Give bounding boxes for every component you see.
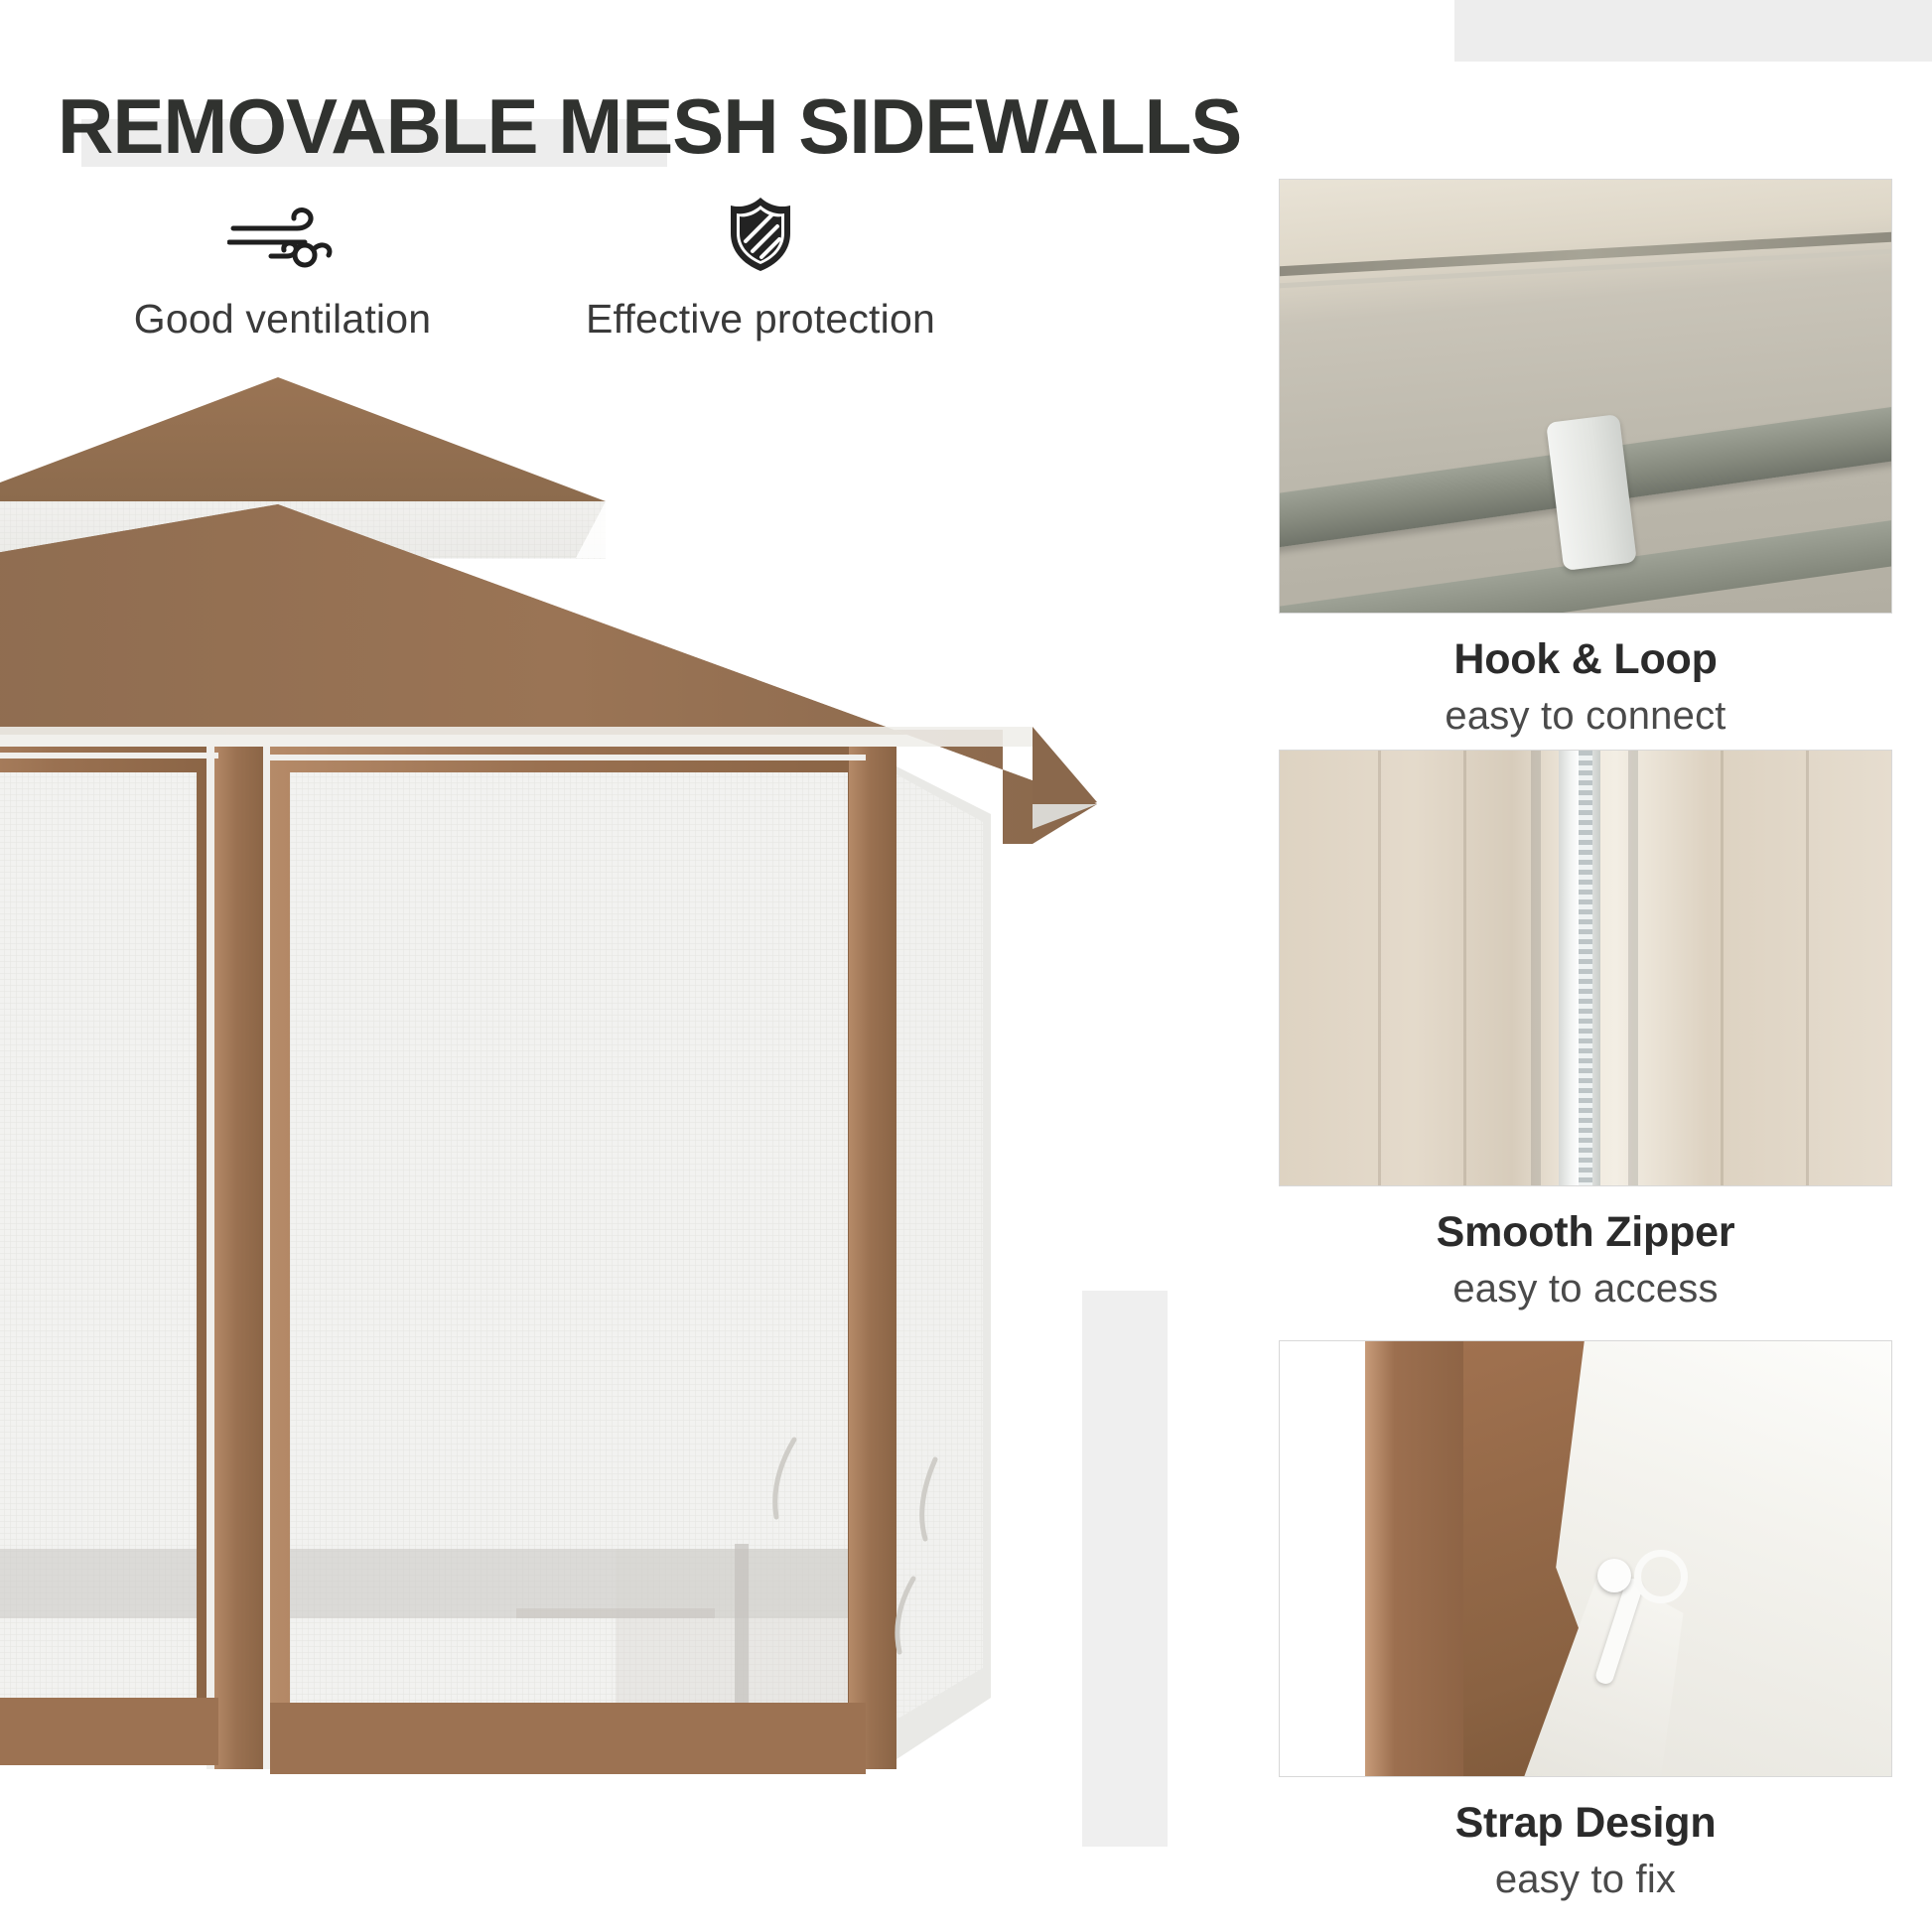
feature-card-smooth-zipper: Smooth Zipper easy to access <box>1279 750 1892 1311</box>
accent-block-top-right <box>1454 0 1932 62</box>
card-subtitle: easy to fix <box>1279 1858 1892 1902</box>
shield-icon <box>546 199 975 270</box>
feature-good-ventilation: Good ventilation <box>91 199 474 343</box>
card-subtitle: easy to connect <box>1279 694 1892 739</box>
card-title: Smooth Zipper <box>1279 1208 1892 1257</box>
feature-card-hook-and-loop: Hook & Loop easy to connect <box>1279 179 1892 739</box>
card-subtitle: easy to access <box>1279 1267 1892 1311</box>
feature-effective-protection: Effective protection <box>546 199 975 343</box>
smooth-zipper-photo <box>1279 750 1892 1186</box>
gazebo-illustration <box>0 377 1102 1847</box>
strap-design-photo <box>1279 1340 1892 1777</box>
feature-label: Effective protection <box>546 296 975 343</box>
page-title: REMOVABLE MESH SIDEWALLS <box>58 87 1241 165</box>
hook-and-loop-photo <box>1279 179 1892 614</box>
feature-card-strap-design: Strap Design easy to fix <box>1279 1340 1892 1902</box>
card-title: Hook & Loop <box>1279 635 1892 684</box>
card-title: Strap Design <box>1279 1799 1892 1848</box>
wind-icon <box>91 199 474 270</box>
feature-label: Good ventilation <box>91 296 474 343</box>
